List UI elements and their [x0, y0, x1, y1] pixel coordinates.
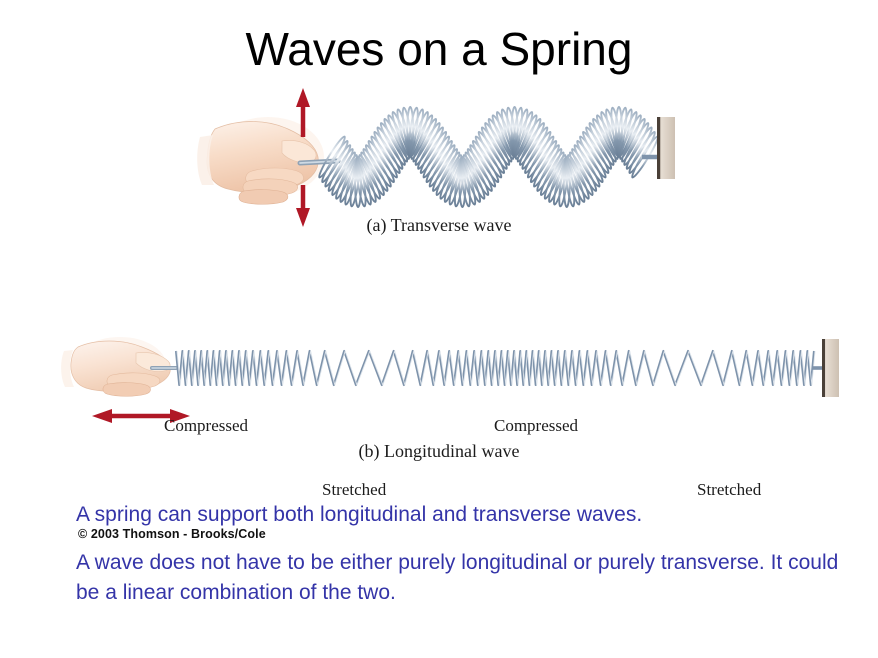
page-title: Waves on a Spring	[0, 22, 878, 76]
longitudinal-wave-group	[61, 337, 839, 423]
wall-support-longitudinal	[822, 339, 839, 397]
slide-canvas: Waves on a Spring	[0, 0, 878, 658]
figure-waves-on-spring: (a) Transverse wave (b) Longitudinal wav…	[0, 85, 878, 480]
spring-diagram-svg	[0, 85, 878, 480]
figure-caption-b: (b) Longitudinal wave	[0, 441, 878, 462]
figure-caption-a: (a) Transverse wave	[0, 215, 878, 236]
hand-illustration-transverse	[197, 117, 338, 204]
transverse-wave-group	[197, 88, 675, 227]
wall-support-transverse	[657, 117, 675, 179]
hand-illustration-longitudinal	[61, 337, 176, 396]
body-paragraph-1: A spring can support both longitudinal a…	[76, 500, 866, 530]
label-compressed-first: Compressed	[164, 416, 248, 436]
body-paragraph-2: A wave does not have to be either purely…	[76, 548, 866, 608]
label-stretched-second: Stretched	[697, 480, 761, 500]
label-stretched-first: Stretched	[322, 480, 386, 500]
label-compressed-second: Compressed	[494, 416, 578, 436]
body-text-block: A spring can support both longitudinal a…	[76, 500, 866, 608]
transverse-spring-coil	[317, 107, 660, 207]
